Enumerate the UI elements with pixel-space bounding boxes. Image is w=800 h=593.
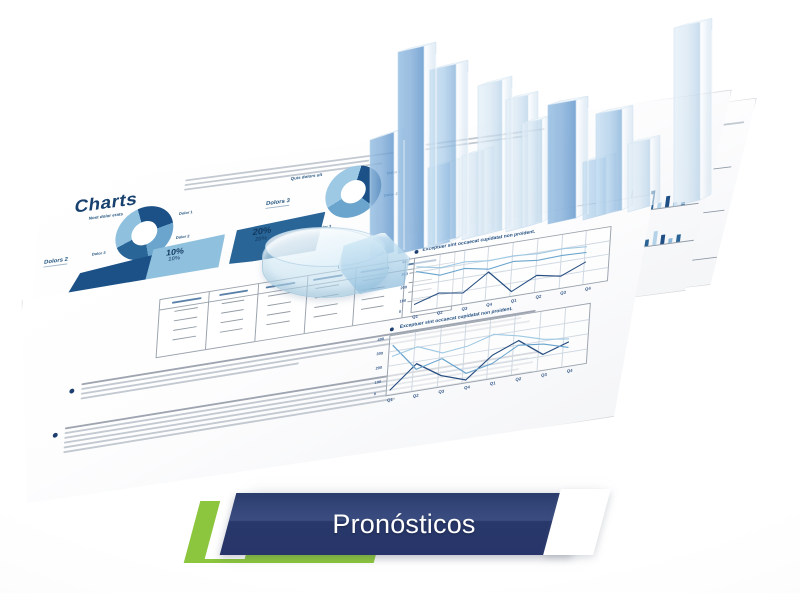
line-chart-1: 400 300 200 100 0 Q1 Q2 Q3 Q4 Q1 Q2 Q3 Q…: [410, 226, 611, 313]
donut-category-2: Dolors 2: [43, 257, 68, 268]
small-donut-1-slice-2: Dolor 2: [176, 233, 190, 239]
small-donut-2-slice-2: Dolor 2: [384, 191, 398, 197]
line-chart-1-bullet: [414, 250, 418, 254]
donut-hole: [339, 178, 367, 204]
small-donut-2-slice-1: Dolor 1: [387, 169, 401, 175]
banner-title-text: Pronósticos: [228, 493, 580, 555]
donut-slice-10-label: 10% 10%: [165, 247, 185, 264]
donut-category-3: Dolors 3: [265, 198, 290, 209]
line-chart-2-bullet: [390, 327, 394, 331]
bullet-marker-1: [69, 388, 74, 394]
small-donut-chart-2: [322, 162, 384, 221]
poster-scene: Nam corporis. Aliquam quia destructurem.: [0, 0, 800, 593]
donut-hole: [130, 219, 159, 246]
main-donut-chart: 30% 30% 10% 10% 20% 20% 40%: [39, 90, 731, 182]
bullet-marker-2: [53, 432, 58, 438]
small-donut-1-slice-1: Dolor 1: [179, 209, 193, 215]
small-donut-1-slice-3: Dolor 3: [92, 250, 106, 256]
title-banner: Pronósticos: [0, 475, 800, 593]
